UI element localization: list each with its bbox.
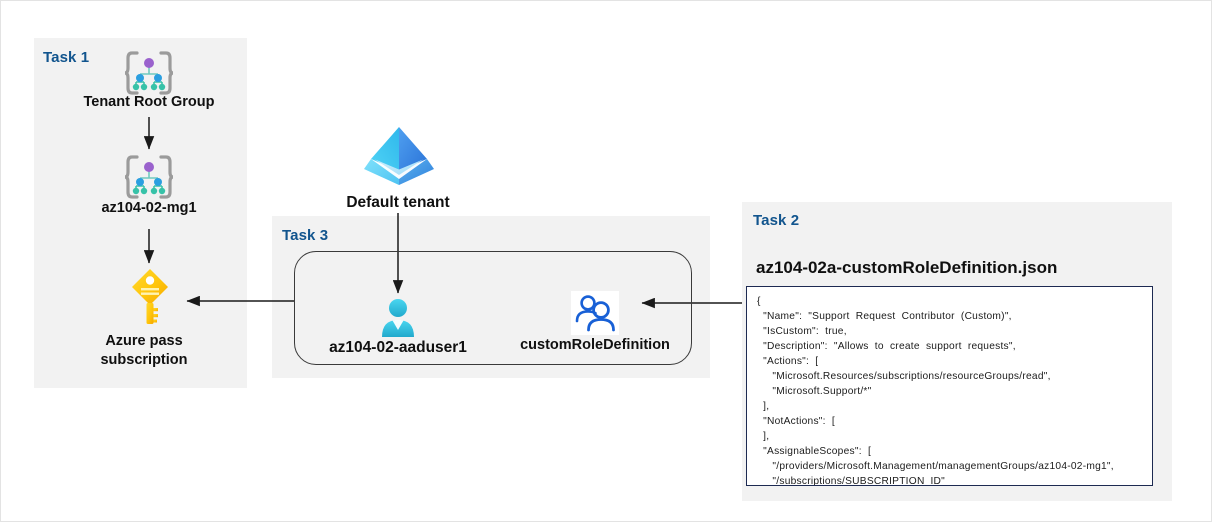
azure-pass-subscription-label-line1: Azure pass xyxy=(39,332,249,351)
default-tenant-label: Default tenant xyxy=(298,193,498,213)
key-icon xyxy=(127,267,173,325)
azure-pass-subscription-label: Azure pass subscription xyxy=(39,332,249,369)
tenant-root-group-label: Tenant Root Group xyxy=(39,93,259,112)
management-group-icon xyxy=(123,49,175,97)
azure-pass-subscription-label-line2: subscription xyxy=(39,351,249,370)
json-code-text: { "Name": "Support Request Contributor (… xyxy=(747,287,1152,486)
management-group-icon xyxy=(123,153,175,201)
json-content-box: { "Name": "Support Request Contributor (… xyxy=(746,286,1153,486)
task2-label: Task 2 xyxy=(753,212,799,229)
entra-tenant-icon xyxy=(362,123,436,191)
task1-label: Task 1 xyxy=(43,49,89,66)
az104-02-aaduser1-label: az104-02-aaduser1 xyxy=(298,338,498,358)
az104-02-mg1-label: az104-02-mg1 xyxy=(39,199,259,218)
task3-label: Task 3 xyxy=(282,227,328,244)
role-users-icon xyxy=(571,291,619,335)
json-file-name: az104-02a-customRoleDefinition.json xyxy=(756,258,1057,278)
diagram-canvas: Task 1 Tenant Root Group xyxy=(0,0,1212,522)
customroledefinition-label: customRoleDefinition xyxy=(495,336,695,355)
user-icon xyxy=(378,297,418,337)
